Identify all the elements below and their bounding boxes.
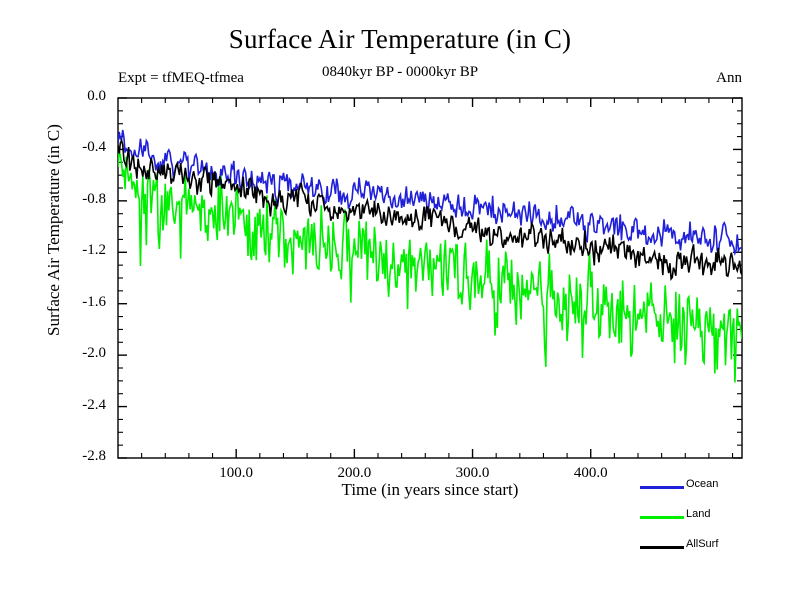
legend-item: AllSurf <box>640 542 800 572</box>
legend-label: Ocean <box>686 478 718 490</box>
legend-label: AllSurf <box>686 538 718 550</box>
legend-label: Land <box>686 508 710 520</box>
legend-item: Land <box>640 512 800 542</box>
legend-color-swatch <box>640 546 684 549</box>
data-series-group <box>118 130 742 383</box>
legend-color-swatch <box>640 516 684 519</box>
legend-color-swatch <box>640 486 684 489</box>
chart-legend: OceanLandAllSurf <box>640 482 800 572</box>
plot-frame <box>118 98 742 458</box>
axis-ticks <box>118 98 742 458</box>
legend-item: Ocean <box>640 482 800 512</box>
figure-canvas: Surface Air Temperature (in C) 0840kyr B… <box>0 0 800 600</box>
